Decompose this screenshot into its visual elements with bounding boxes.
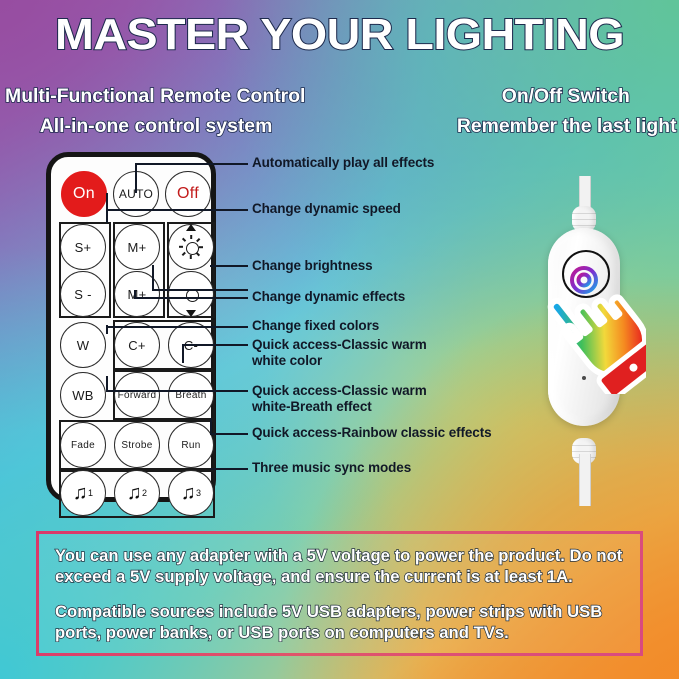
arrow-up-icon xyxy=(186,224,196,231)
leader-speed-vertical xyxy=(106,193,108,223)
remote-button-music-3[interactable]: ♫3 xyxy=(168,470,214,516)
leader-warm-white-v xyxy=(182,344,184,363)
music-index: 1 xyxy=(88,488,93,498)
remote-button-run[interactable]: Run xyxy=(168,422,214,468)
leader-fixed-colors xyxy=(106,326,248,328)
subtitle-left-line1: Multi-Functional Remote Control xyxy=(5,86,305,108)
callout-rainbow: Quick access-Rainbow classic effects xyxy=(252,425,492,441)
music-note-icon: ♫ xyxy=(73,483,88,503)
leader-brightness xyxy=(210,265,248,267)
remote-button-strobe[interactable]: Strobe xyxy=(114,422,160,468)
arrow-down-icon xyxy=(186,310,196,317)
remote-button-color-up[interactable]: C+ xyxy=(114,322,160,368)
subtitle-left-line2: All-in-one control system xyxy=(40,116,273,138)
leader-warm-white xyxy=(182,344,248,346)
remote-button-fade[interactable]: Fade xyxy=(60,422,106,468)
sun-bright-icon xyxy=(178,234,204,260)
product-infographic: MASTER YOUR LIGHTING Multi-Functional Re… xyxy=(0,0,679,679)
power-requirements-note: You can use any adapter with a 5V voltag… xyxy=(36,531,643,656)
note-paragraph-2: Compatible sources include 5V USB adapte… xyxy=(55,602,630,644)
cable-bottom xyxy=(579,454,591,506)
music-note-icon: ♫ xyxy=(127,483,142,503)
callout-speed: Change dynamic speed xyxy=(252,201,401,217)
remote-button-music-2[interactable]: ♫2 xyxy=(114,470,160,516)
remote-button-brightness-up[interactable] xyxy=(168,224,214,270)
callout-warm-white-breath: Quick access-Classic warm white-Breath e… xyxy=(252,383,427,415)
leader-music xyxy=(210,468,248,470)
subtitle-right-line2: Remember the last light xyxy=(456,116,676,138)
remote-button-warm-white[interactable]: WB xyxy=(60,372,106,418)
sun-dim-icon xyxy=(178,281,204,307)
leader-auto-vertical xyxy=(135,163,137,193)
leader-speed xyxy=(106,209,248,211)
callout-auto: Automatically play all effects xyxy=(252,155,434,171)
leader-brightness-v xyxy=(152,265,154,289)
remote-button-speed-up[interactable]: S+ xyxy=(60,224,106,270)
remote-button-white[interactable]: W xyxy=(60,322,106,368)
subtitle-right-line1: On/Off Switch xyxy=(502,86,630,108)
leader-brightness-2 xyxy=(152,289,248,291)
leader-auto xyxy=(135,163,248,165)
remote-button-music-1[interactable]: ♫1 xyxy=(60,470,106,516)
remote-button-speed-down[interactable]: S - xyxy=(60,271,106,317)
callout-brightness: Change brightness xyxy=(252,258,373,274)
music-note-icon: ♫ xyxy=(181,483,196,503)
music-index: 3 xyxy=(196,488,201,498)
note-paragraph-1: You can use any adapter with a 5V voltag… xyxy=(55,546,630,588)
callout-music: Three music sync modes xyxy=(252,460,411,476)
callout-fixed-colors: Change fixed colors xyxy=(252,318,379,334)
leader-rainbow xyxy=(210,433,248,435)
callout-effects: Change dynamic effects xyxy=(252,289,405,305)
page-title: MASTER YOUR LIGHTING xyxy=(0,10,679,60)
remote-button-brightness-down[interactable] xyxy=(168,271,214,317)
leader-rainbow-v xyxy=(210,418,212,433)
remote-button-breath[interactable]: Breath xyxy=(168,372,214,418)
inline-controller xyxy=(496,176,672,506)
music-index: 2 xyxy=(142,488,147,498)
pointing-hand-cursor-icon xyxy=(542,276,646,394)
remote-button-forward[interactable]: Forward xyxy=(114,372,160,418)
remote-button-on[interactable]: On xyxy=(61,171,107,217)
remote-button-mode-up[interactable]: M+ xyxy=(114,224,160,270)
callout-warm-white: Quick access-Classic warm white color xyxy=(252,337,427,369)
leader-breath xyxy=(106,390,248,392)
leader-effects xyxy=(134,297,248,299)
